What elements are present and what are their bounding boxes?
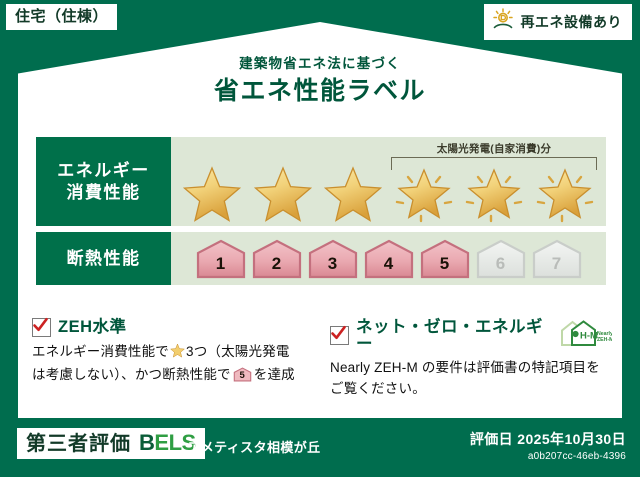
insulation-grade-item: 5 xyxy=(419,238,471,280)
third-party-evaluation-label: 第三者評価 xyxy=(26,434,131,454)
insulation-grade-item: 6 xyxy=(475,238,527,280)
insulation-grade-number: 6 xyxy=(475,255,527,272)
performance-rows: エネルギー 消費性能 太陽光発電(自家消費)分 xyxy=(36,137,606,291)
energy-label-line1: エネルギー xyxy=(57,160,150,181)
criteria-nze-body: Nearly ZEH-M の要件は評価書の特記項目をご覧ください。 xyxy=(330,358,612,400)
insulation-grade-item: 4 xyxy=(363,238,415,280)
star-item-solar xyxy=(459,137,530,223)
energy-performance-row-label: エネルギー 消費性能 xyxy=(36,137,171,226)
inline-house-icon: 5 xyxy=(233,367,252,382)
energy-star-rating xyxy=(171,137,606,226)
criteria-zeh-text-2: 3つ（太陽光発電 xyxy=(186,344,290,359)
insulation-grade-number: 4 xyxy=(363,255,415,272)
sun-icon xyxy=(491,8,515,35)
energy-performance-label: 住宅（住棟） 再エネ設備あり 建築物省エネ法に基づく 省エネ性能ラベル xyxy=(0,0,640,477)
building-type-tag-text: 住宅（住棟） xyxy=(15,8,108,25)
renewable-badge-label: 再エネ設備あり xyxy=(521,15,623,29)
heading-subtitle: 建築物省エネ法に基づく xyxy=(0,56,640,72)
svg-text:ZEH-M: ZEH-M xyxy=(597,337,612,343)
zeh-checkbox[interactable] xyxy=(32,318,51,337)
evaluation-date: 評価日 2025年10月30日 xyxy=(470,432,626,446)
footer-bar: 第三者評価 BELS アメティスタ相模が丘 評価日 2025年10月30日 a0… xyxy=(0,418,640,477)
insulation-grade-number: 7 xyxy=(531,255,583,272)
criteria-zeh-text-4: を達成 xyxy=(254,367,295,382)
star-item-solar xyxy=(530,137,601,223)
insulation-grade-number: 5 xyxy=(419,255,471,272)
evaluation-id: a0b207cc-46eb-4396 xyxy=(528,452,626,462)
svg-text:H-M: H-M xyxy=(580,331,598,342)
criteria-zeh-text-3: は考慮しない）、かつ断熱性能で xyxy=(32,367,231,382)
energy-performance-row: エネルギー 消費性能 太陽光発電(自家消費)分 xyxy=(36,137,606,226)
renewable-equipment-badge: 再エネ設備あり xyxy=(484,4,633,40)
criteria-zeh-header: ZEH水準 xyxy=(32,318,314,337)
insulation-performance-row-label: 断熱性能 xyxy=(36,232,171,285)
insulation-performance-row: 断熱性能 xyxy=(36,232,606,285)
insulation-grade-number: 2 xyxy=(251,255,303,272)
page-title: 省エネ性能ラベル xyxy=(0,76,640,106)
label-heading: 建築物省エネ法に基づく 省エネ性能ラベル xyxy=(0,56,640,106)
insulation-grade-item: 7 xyxy=(531,238,583,280)
energy-performance-row-body: 太陽光発電(自家消費)分 xyxy=(171,137,606,226)
criteria-zeh: ZEH水準 エネルギー消費性能で3つ（太陽光発電 は考慮しない）、かつ断熱性能で… xyxy=(32,318,314,400)
bels-certification-chip: 第三者評価 BELS xyxy=(17,428,205,459)
criteria-section: ZEH水準 エネルギー消費性能で3つ（太陽光発電 は考慮しない）、かつ断熱性能で… xyxy=(32,318,612,400)
net-zero-energy-checkbox[interactable] xyxy=(330,326,349,345)
insulation-grade-number: 3 xyxy=(307,255,359,272)
star-item xyxy=(248,137,319,223)
nearly-zeh-m-logo-icon: H-M Nearly ZEH-M xyxy=(558,318,612,353)
insulation-grade-item: 1 xyxy=(195,238,247,280)
criteria-net-zero-energy: ネット・ゼロ・エネルギー H-M Nearly ZEH-M Nearly ZEH… xyxy=(330,318,612,400)
criteria-nze-title: ネット・ゼロ・エネルギー xyxy=(356,319,548,352)
bels-logo-b: B xyxy=(139,430,154,455)
insulation-grade-item: 2 xyxy=(251,238,303,280)
criteria-zeh-body: エネルギー消費性能で3つ（太陽光発電 は考慮しない）、かつ断熱性能で5を達成 xyxy=(32,342,314,386)
project-name: アメティスタ相模が丘 xyxy=(188,441,321,454)
insulation-grade-scale: 1 2 3 xyxy=(171,232,606,285)
star-item xyxy=(177,137,248,223)
insulation-performance-row-body: 1 2 3 xyxy=(171,232,606,285)
insulation-label-line1: 断熱性能 xyxy=(67,248,141,269)
criteria-zeh-title: ZEH水準 xyxy=(58,319,127,336)
star-item xyxy=(318,137,389,223)
criteria-nze-header: ネット・ゼロ・エネルギー H-M Nearly ZEH-M xyxy=(330,318,612,353)
energy-label-line2: 消費性能 xyxy=(67,182,141,203)
star-item-solar xyxy=(389,137,460,223)
insulation-grade-number: 1 xyxy=(195,255,247,272)
criteria-zeh-text-1: エネルギー消費性能で xyxy=(32,344,169,359)
building-type-tag: 住宅（住棟） xyxy=(6,4,117,30)
inline-star-icon xyxy=(170,346,185,361)
insulation-grade-item: 3 xyxy=(307,238,359,280)
inline-house-number: 5 xyxy=(233,371,252,381)
